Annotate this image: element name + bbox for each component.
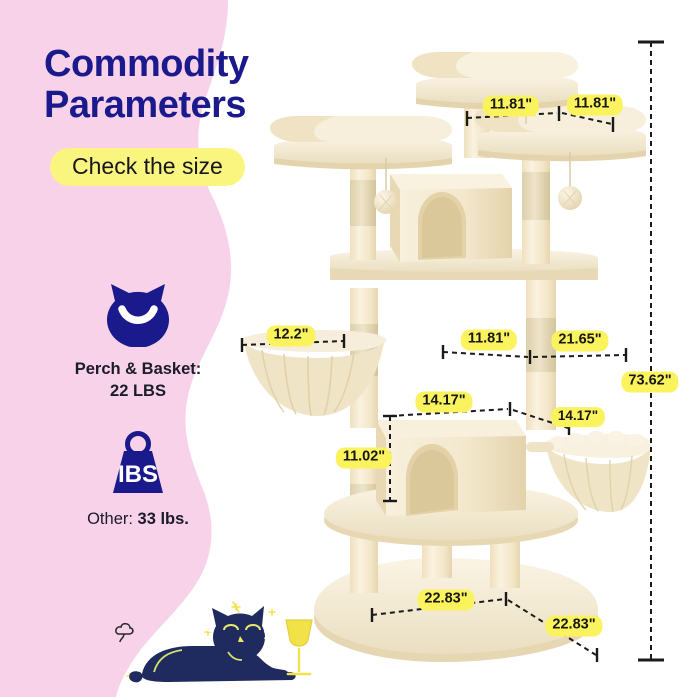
top-perch — [412, 52, 578, 109]
spec-perch-basket-line1: Perch & Basket: — [75, 360, 202, 378]
upper-condo — [390, 174, 512, 262]
spec-other-weight-line1: Other: — [87, 510, 137, 528]
infographic-canvas: Commodity Parameters Check the size Perc… — [0, 0, 679, 697]
lower-condo — [376, 420, 526, 516]
title-line-1: Commodity — [44, 43, 249, 85]
weight-lbs-icon: IBS — [38, 428, 238, 500]
cat-head-icon — [38, 278, 238, 350]
puff-icon — [116, 624, 133, 642]
check-size-badge: Check the size — [50, 148, 245, 186]
spec-perch-basket-line2: 22 LBS — [110, 382, 166, 400]
cat-tail — [129, 671, 142, 682]
spec-other-weight: IBS Other: 33 lbs. — [38, 428, 238, 530]
spec-perch-basket: Perch & Basket: 22 LBS — [38, 278, 238, 403]
spec-other-weight-caption: Other: 33 lbs. — [38, 508, 238, 530]
spec-perch-basket-caption: Perch & Basket: 22 LBS — [38, 358, 238, 403]
weight-icon-text: IBS — [118, 461, 158, 488]
cat-tree-product-image — [226, 18, 651, 678]
lying-cat-mascot — [112, 596, 322, 692]
spec-other-weight-line2: 33 lbs. — [138, 510, 189, 528]
left-top-perch — [270, 116, 452, 169]
wine-glass-icon — [286, 620, 312, 674]
check-size-badge-label: Check the size — [72, 153, 223, 179]
right-basket-arm — [526, 442, 554, 452]
upper-right-perch — [474, 106, 646, 161]
